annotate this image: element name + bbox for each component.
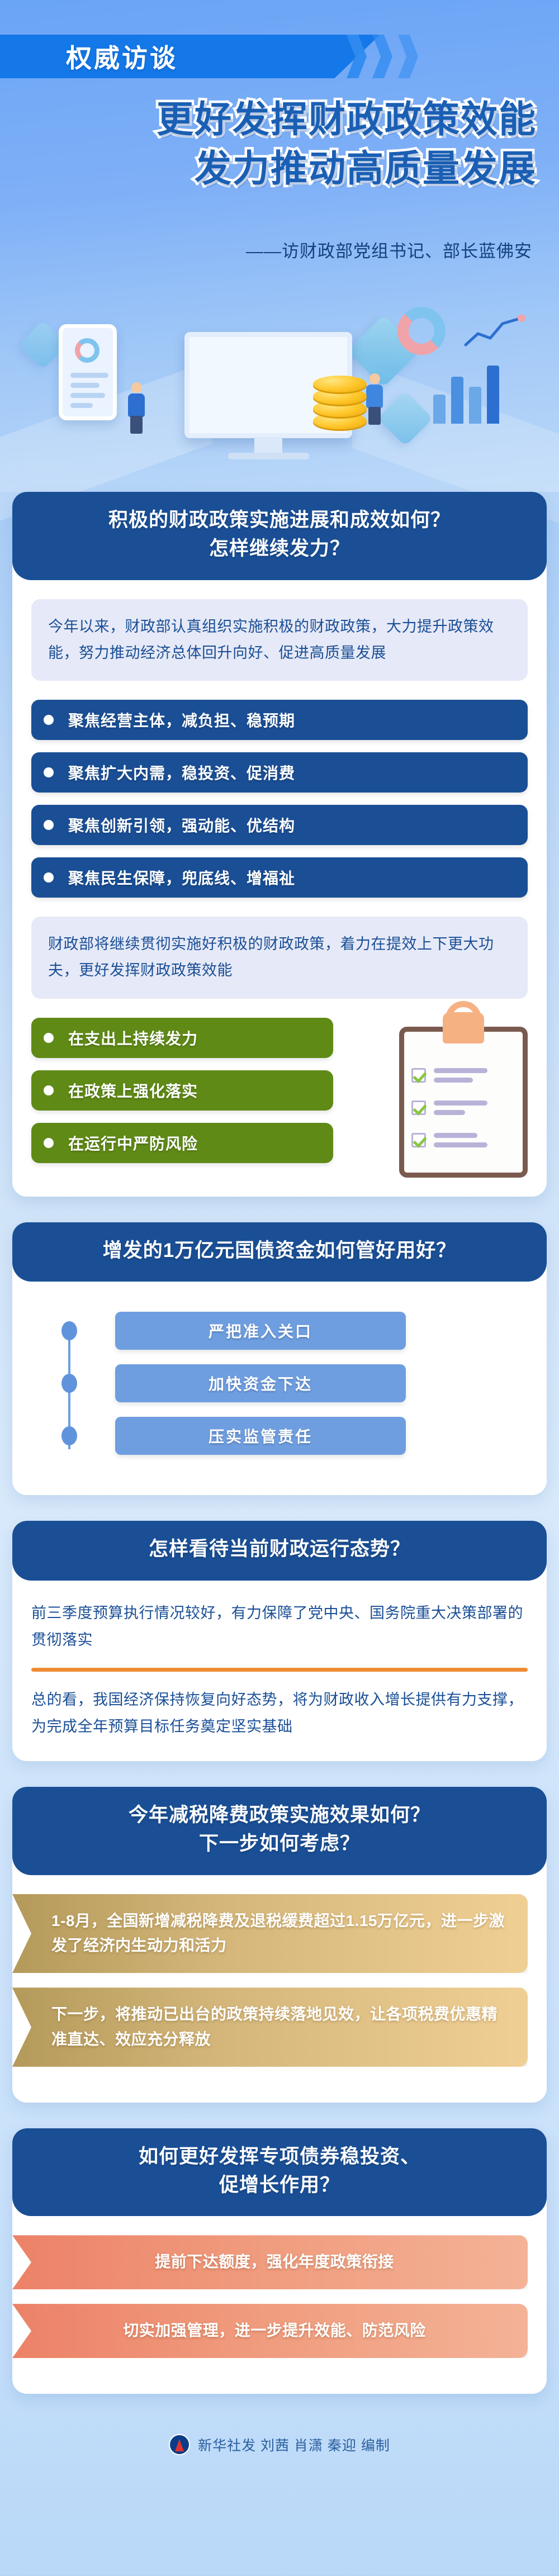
pie-chart-icon [75, 338, 100, 363]
section-3-body: 前三季度预算执行情况较好，有力保障了党中央、国务院重大决策部署的贯彻落实 总的看… [12, 1581, 547, 1761]
section-4-ribbon-1-text: 1-8月，全国新增减税降费及退税缓费超过1.15万亿元，进一步激发了经济内生动力… [51, 1909, 509, 1959]
checklist-lines [434, 1100, 487, 1115]
hero-banner: 权威访谈 更好发挥财政政策效能 发力推动高质量发展 ——访财政部党组书记、部长蓝… [0, 0, 559, 492]
bar-line [70, 383, 100, 388]
section-2-pill-1-label: 严把准入关口 [209, 1323, 312, 1340]
section-2-pill-1[interactable]: 严把准入关口 [115, 1312, 406, 1350]
timeline-node-icon [61, 1426, 77, 1445]
coin [313, 376, 367, 392]
section-1-paragraph-2: 财政部将继续贯彻实施好积极的财政政策，着力在提效上下更大功夫，更好发挥财政政策效… [48, 931, 511, 984]
bar-line [70, 403, 93, 408]
section-2-pill-3[interactable]: 压实监管责任 [115, 1417, 406, 1455]
clipboard-clip [443, 1012, 484, 1043]
bullet-dot-icon [44, 820, 54, 830]
section-3-paragraph-2: 总的看，我国经济保持恢复向好态势，将为财政收入增长提供有力支撑，为完成全年预算目… [31, 1686, 528, 1740]
section-5-question-line-1: 如何更好发挥专项债券稳投资、 [31, 2143, 528, 2171]
section-2-pill-2[interactable]: 加快资金下达 [115, 1364, 406, 1402]
checkbox-checked-icon [411, 1133, 426, 1147]
bullet-dot-icon [44, 1085, 54, 1095]
bar-line [70, 373, 108, 378]
section-1-blue-pill-1-label: 聚焦经营主体，减负担、稳预期 [68, 709, 295, 731]
section-3-divider [31, 1668, 528, 1672]
section-1-question-line-2: 怎样继续发力？ [31, 535, 528, 563]
section-1-green-pill-1[interactable]: 在支出上持续发力 [31, 1018, 333, 1058]
section-card-3: 怎样看待当前财政运行态势？ 前三季度预算执行情况较好，有力保障了党中央、国务院重… [12, 1521, 547, 1761]
bullet-dot-icon [44, 872, 54, 883]
section-1-blue-pill-2[interactable]: 聚焦扩大内需，稳投资、促消费 [31, 752, 528, 793]
section-2-timeline-row-1[interactable]: 严把准入关口 [31, 1312, 528, 1350]
person-legs [130, 416, 143, 434]
section-1-blue-pill-3[interactable]: 聚焦创新引领，强动能、优结构 [31, 805, 528, 845]
section-2-pill-2-label: 加快资金下达 [209, 1375, 312, 1393]
section-4-ribbon-2[interactable]: 下一步，将推动已出台的政策持续落地见效，让各项税费优惠精准直达、效应充分释放 [12, 1987, 528, 2067]
section-1-question-header: 积极的财政政策实施进展和成效如何？ 怎样继续发力？ [12, 492, 547, 580]
section-1-blue-pill-2-label: 聚焦扩大内需，稳投资、促消费 [68, 761, 295, 784]
section-2-timeline-row-2[interactable]: 加快资金下达 [31, 1364, 528, 1402]
content-wrapper: 积极的财政政策实施进展和成效如何？ 怎样继续发力？ 今年以来，财政部认真组织实施… [0, 492, 559, 2478]
clipboard-checklist-icon [399, 1027, 528, 1178]
bar [487, 366, 499, 424]
section-3-question-line-1: 怎样看待当前财政运行态势？ [31, 1535, 528, 1564]
section-card-4: 今年减税降费政策实施效果如何？ 下一步如何考虑？ 1-8月，全国新增减税降费及退… [12, 1787, 547, 2103]
section-2-timeline-row-3[interactable]: 压实监管责任 [31, 1417, 528, 1455]
section-4-ribbon-2-text: 下一步，将推动已出台的政策持续落地见效，让各项税费优惠精准直达、效应充分释放 [51, 2002, 509, 2052]
checkbox-checked-icon [411, 1100, 426, 1115]
section-2-pill-3-label: 压实监管责任 [209, 1428, 312, 1445]
section-5-ribbon-1[interactable]: 提前下达额度，强化年度政策衔接 [12, 2235, 528, 2289]
section-1-paragraph-1: 今年以来，财政部认真组织实施积极的财政政策，大力提升政策效能，努力推动经济总体回… [48, 614, 511, 667]
bullet-dot-icon [44, 767, 54, 777]
section-2-question-header: 增发的1万亿元国债资金如何管好用好？ [12, 1222, 547, 1282]
monitor-base [228, 453, 309, 459]
section-1-green-pill-3[interactable]: 在运行中严防风险 [31, 1123, 333, 1163]
bar [451, 377, 463, 424]
footer-credit: 新华社发 刘茜 肖潇 秦迎 编制 [12, 2420, 547, 2478]
person-head [369, 373, 380, 384]
timeline-node-icon [61, 1321, 77, 1340]
section-4-question-header: 今年减税降费政策实施效果如何？ 下一步如何考虑？ [12, 1787, 547, 1875]
timeline-node-icon [61, 1374, 77, 1393]
section-4-question-line-1: 今年减税降费政策实施效果如何？ [31, 1801, 528, 1830]
person-body [128, 393, 145, 417]
section-2-timeline: 严把准入关口 加快资金下达 压实监管责任 [31, 1301, 528, 1474]
section-1-green-pill-1-label: 在支出上持续发力 [68, 1027, 198, 1049]
section-2-question-line-1: 增发的1万亿元国债资金如何管好用好？ [31, 1237, 528, 1265]
coin-stack-icon [313, 357, 367, 429]
section-1-paragraph-box-2: 财政部将继续贯彻实施好积极的财政政策，着力在提效上下更大功夫，更好发挥财政政策效… [31, 917, 528, 999]
bar [433, 395, 446, 424]
bullet-dot-icon [44, 715, 54, 725]
person-figure [125, 382, 148, 434]
checklist-row [411, 1068, 487, 1083]
page-title: 更好发挥财政政策效能 发力推动高质量发展 [157, 95, 537, 193]
checklist-row [411, 1100, 487, 1115]
bar [469, 387, 481, 424]
checkbox-checked-icon [411, 1068, 426, 1083]
section-1-question-line-1: 积极的财政政策实施进展和成效如何？ [31, 506, 528, 535]
donut-chart-icon [397, 307, 446, 355]
section-5-ribbon-1-text: 提前下达额度，强化年度政策衔接 [51, 2250, 509, 2275]
section-1-blue-pill-4[interactable]: 聚焦民生保障，兜底线、增福祉 [31, 857, 528, 898]
person-head [131, 382, 142, 393]
section-1-blue-pill-4-label: 聚焦民生保障，兜底线、增福祉 [68, 866, 295, 889]
section-5-question-header: 如何更好发挥专项债券稳投资、 促增长作用？ [12, 2128, 547, 2217]
section-1-blue-pill-3-label: 聚焦创新引领，强动能、优结构 [68, 814, 295, 836]
bar-chart-icon [433, 357, 500, 424]
hero-illustration [0, 252, 559, 492]
section-2-body: 严把准入关口 加快资金下达 压实监管责任 [12, 1282, 547, 1495]
footer-credit-text: 新华社发 刘茜 肖潇 秦迎 编制 [198, 2435, 390, 2455]
section-3-question-header: 怎样看待当前财政运行态势？ [12, 1521, 547, 1581]
section-4-ribbon-1[interactable]: 1-8月，全国新增减税降费及退税缓费超过1.15万亿元，进一步激发了经济内生动力… [12, 1894, 528, 1973]
page-title-line-2: 发力推动高质量发展 [157, 144, 537, 193]
category-tag-banner: 权威访谈 [0, 35, 380, 78]
section-card-2: 增发的1万亿元国债资金如何管好用好？ 严把准入关口 加快资金下达 [12, 1222, 547, 1496]
section-5-question-line-2: 促增长作用？ [31, 2171, 528, 2200]
section-4-question-line-2: 下一步如何考虑？ [31, 1830, 528, 1858]
section-5-ribbon-2-text: 切实加强管理，进一步提升效能、防范风险 [51, 2318, 509, 2343]
bullet-dot-icon [44, 1138, 54, 1148]
section-1-paragraph-box-1: 今年以来，财政部认真组织实施积极的财政政策，大力提升政策效能，努力推动经济总体回… [31, 599, 528, 681]
person-legs [368, 407, 381, 425]
section-4-body: 1-8月，全国新增减税降费及退税缓费超过1.15万亿元，进一步激发了经济内生动力… [12, 1875, 547, 2103]
xinhua-logo-icon [169, 2434, 190, 2455]
section-card-5: 如何更好发挥专项债券稳投资、 促增长作用？ 提前下达额度，强化年度政策衔接 切实… [12, 2128, 547, 2394]
section-1-blue-pill-1[interactable]: 聚焦经营主体，减负担、稳预期 [31, 700, 528, 740]
section-1-body: 今年以来，财政部认真组织实施积极的财政政策，大力提升政策效能，努力推动经济总体回… [12, 580, 547, 1197]
bullet-dot-icon [44, 1033, 54, 1043]
section-card-1: 积极的财政政策实施进展和成效如何？ 怎样继续发力？ 今年以来，财政部认真组织实施… [12, 492, 547, 1197]
section-1-green-pill-2[interactable]: 在政策上强化落实 [31, 1070, 333, 1111]
phone-illustration [59, 324, 117, 420]
section-5-body: 提前下达额度，强化年度政策衔接 切实加强管理，进一步提升效能、防范风险 [12, 2216, 547, 2394]
section-3-paragraph-1: 前三季度预算执行情况较好，有力保障了党中央、国务院重大决策部署的贯彻落实 [31, 1600, 528, 1653]
page-title-line-1: 更好发挥财政政策效能 [157, 95, 537, 144]
section-5-ribbon-2[interactable]: 切实加强管理，进一步提升效能、防范风险 [12, 2304, 528, 2358]
checklist-row [411, 1133, 487, 1147]
section-1-green-pill-2-label: 在政策上强化落实 [68, 1079, 198, 1102]
category-tag-label: 权威访谈 [66, 38, 178, 75]
line-chart-icon [463, 315, 525, 349]
person-figure [363, 373, 386, 425]
person-body [366, 385, 383, 408]
bar-line [70, 393, 105, 398]
checklist-lines [434, 1133, 487, 1147]
checklist-lines [434, 1068, 487, 1083]
section-1-green-pill-3-label: 在运行中严防风险 [68, 1132, 198, 1154]
